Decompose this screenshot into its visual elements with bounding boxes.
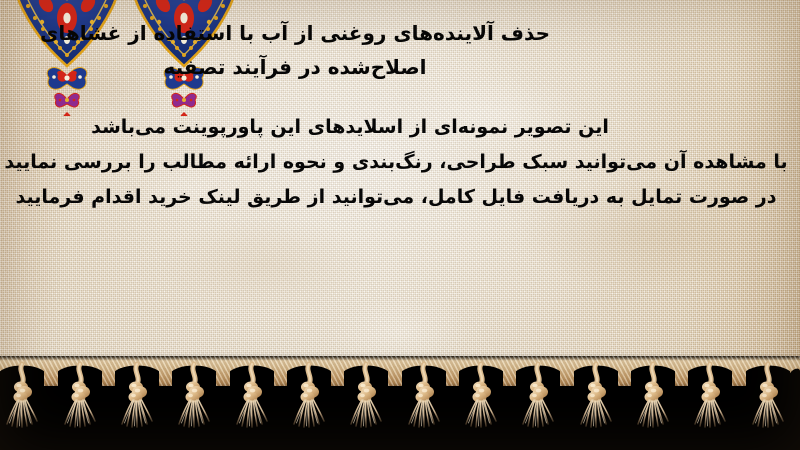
- slide-canvas: حذف آلاینده‌های روغنی از آب با استفاده ا…: [0, 0, 800, 450]
- slide-title-line-1: حذف آلاینده‌های روغنی از آب با استفاده ا…: [4, 16, 786, 50]
- slide-body: این تصویر نمونه‌ای از اسلایدهای این پاور…: [0, 110, 800, 215]
- slide-title: حذف آلاینده‌های روغنی از آب با استفاده ا…: [0, 16, 800, 84]
- slide-body-line-3: در صورت تمایل به دریافت فایل کامل، می‌تو…: [0, 180, 792, 215]
- slide-title-line-2: اصلاح‌شده در فرآیند تصفیه: [4, 50, 786, 84]
- slide-body-line-2: با مشاهده آن می‌توانید سبک طراحی، رنگ‌بن…: [0, 145, 792, 180]
- fringe-tassel-group: [0, 356, 800, 450]
- carpet-fringe: [0, 356, 800, 450]
- slide-body-line-1: این تصویر نمونه‌ای از اسلایدهای این پاور…: [0, 110, 792, 145]
